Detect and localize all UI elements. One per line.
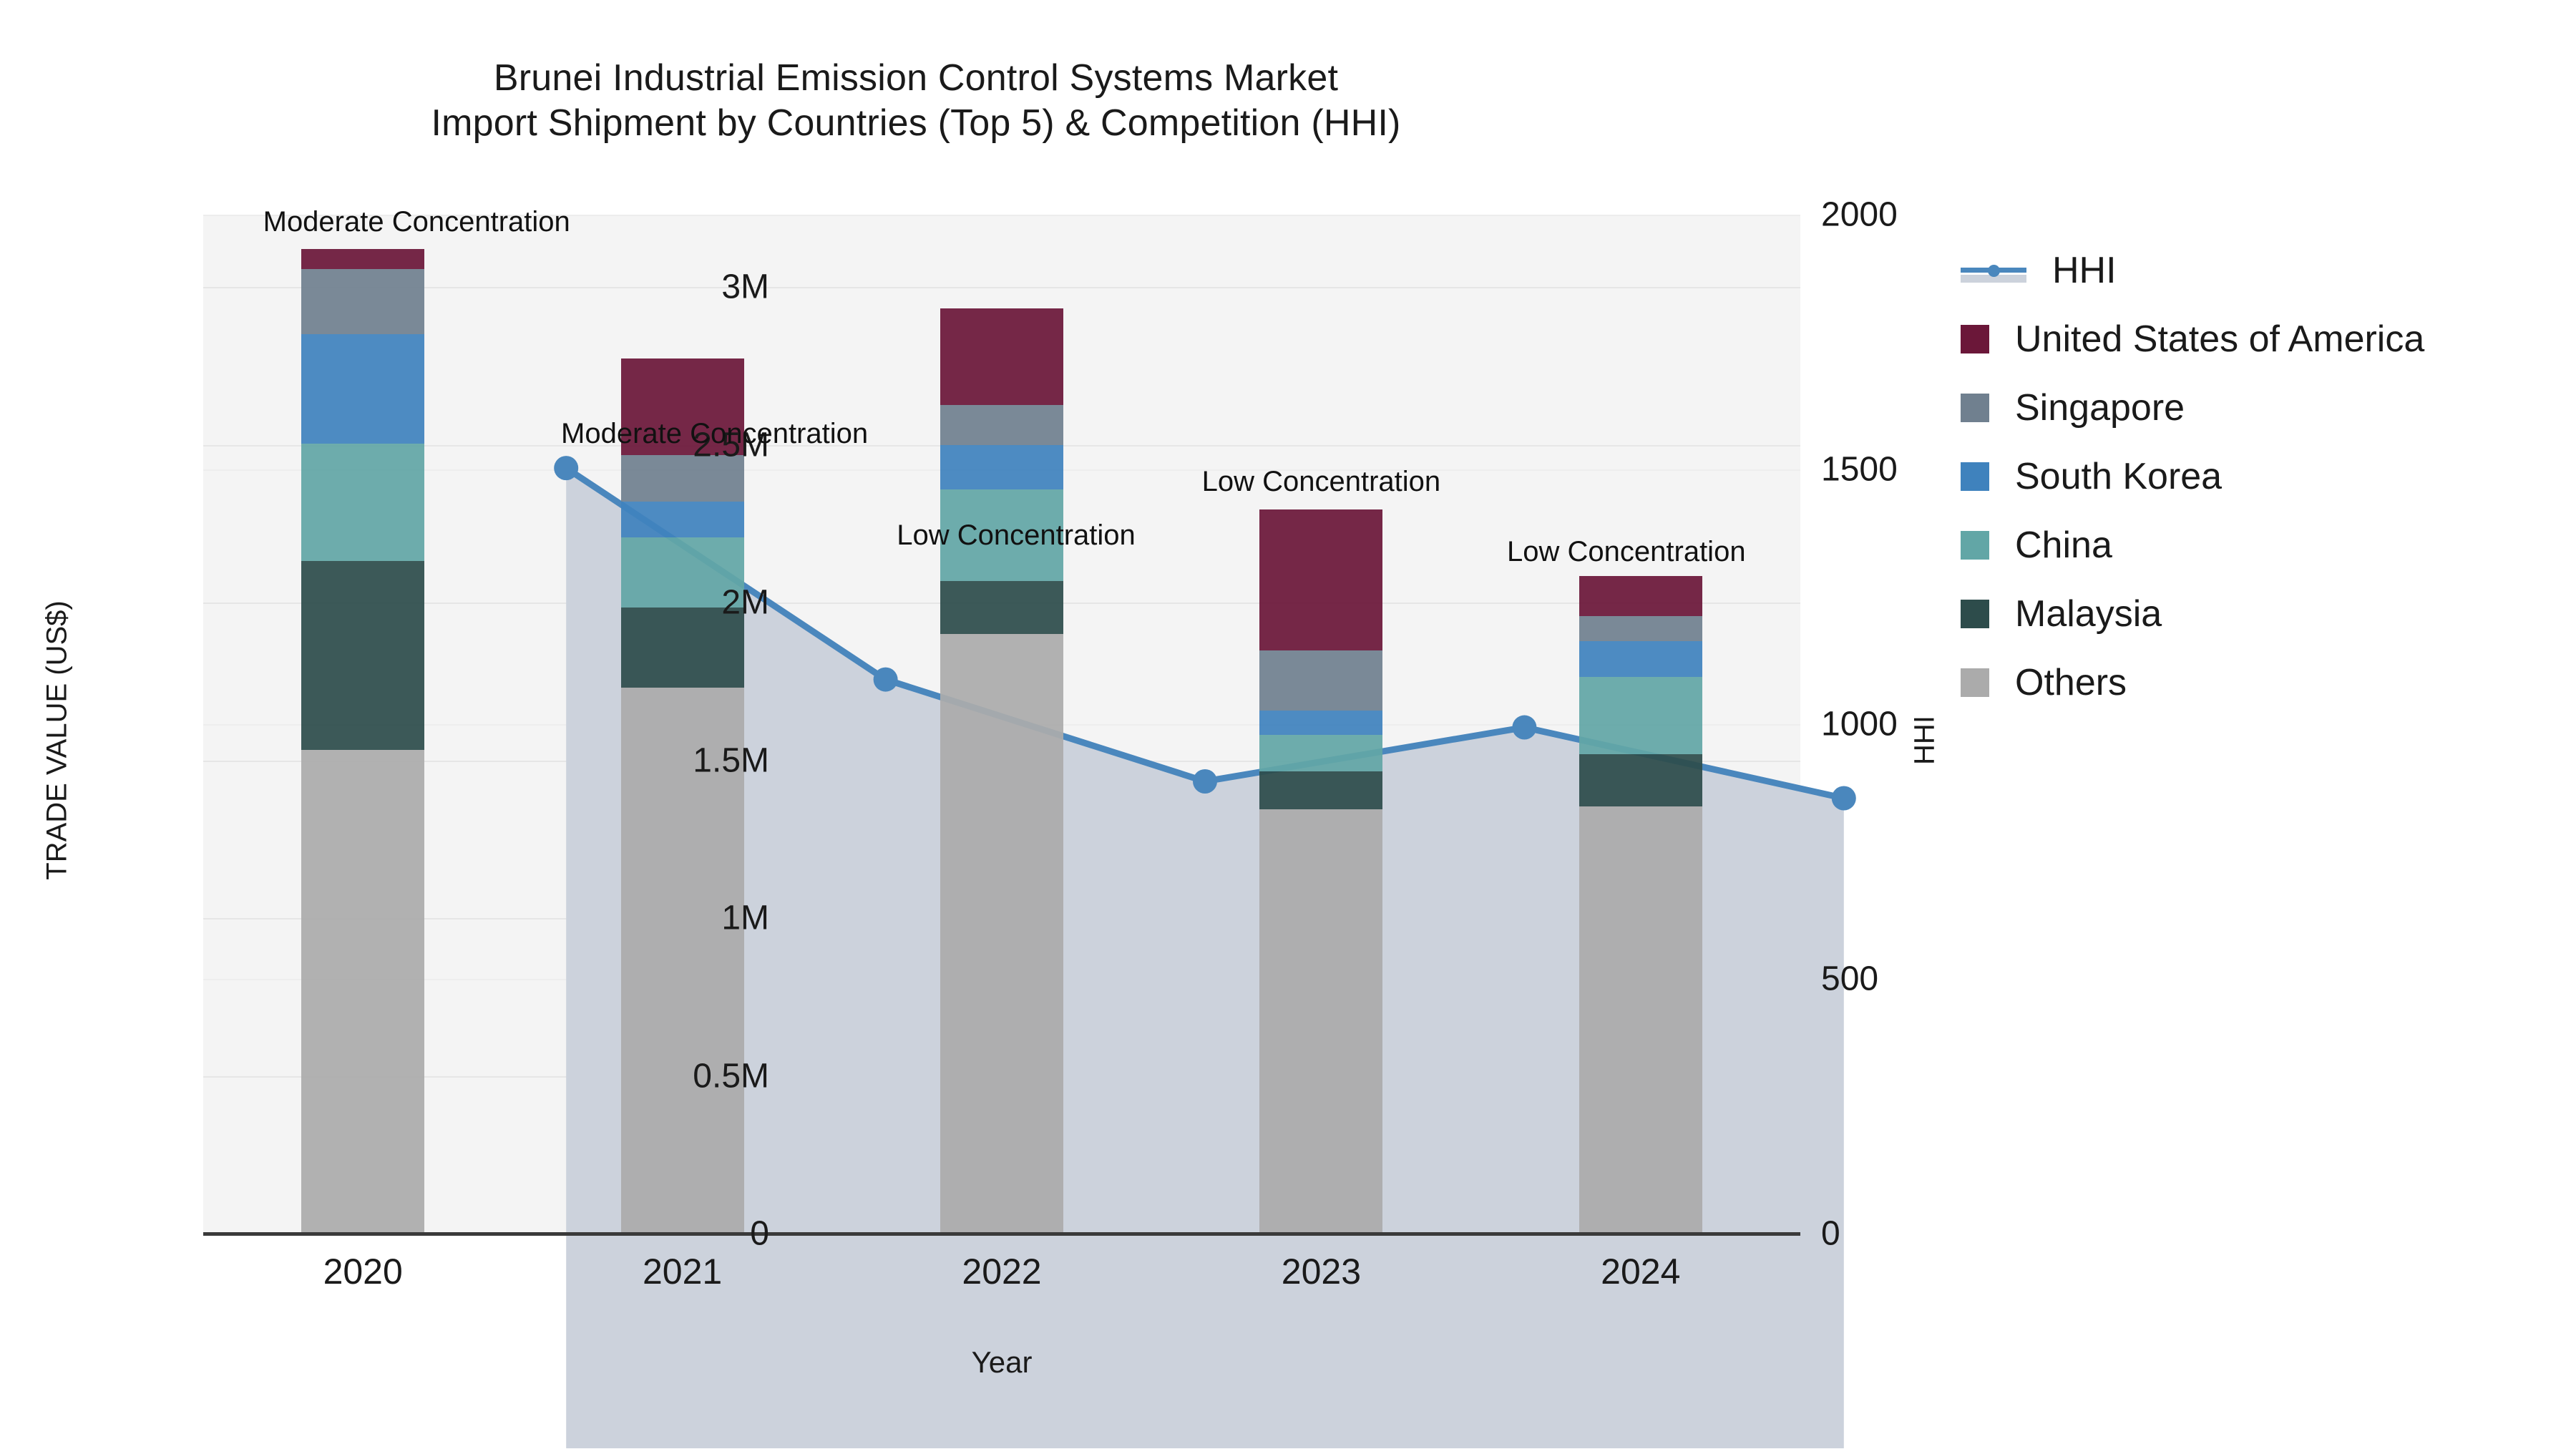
legend-item[interactable]: HHI bbox=[1961, 236, 2424, 305]
bar-segment[interactable] bbox=[1579, 754, 1702, 806]
bar-segment[interactable] bbox=[940, 405, 1063, 445]
bar-segment[interactable] bbox=[1579, 576, 1702, 616]
legend-item[interactable]: China bbox=[1961, 511, 2424, 580]
plot-area bbox=[203, 215, 1800, 1234]
bar-segment[interactable] bbox=[1259, 771, 1382, 809]
legend-item[interactable]: United States of America bbox=[1961, 305, 2424, 374]
x-axis-label: Year bbox=[203, 1345, 1800, 1380]
y-axis-tick-label: 1M bbox=[483, 899, 769, 938]
chart-title-line-1: Brunei Industrial Emission Control Syste… bbox=[0, 56, 1832, 101]
bar-stack[interactable] bbox=[1579, 215, 1702, 1234]
bar-segment[interactable] bbox=[1259, 711, 1382, 735]
legend-item[interactable]: Singapore bbox=[1961, 374, 2424, 442]
bar-segment[interactable] bbox=[1259, 650, 1382, 711]
bar-segment[interactable] bbox=[621, 502, 744, 537]
legend-item[interactable]: Malaysia bbox=[1961, 580, 2424, 648]
bar-segment[interactable] bbox=[1579, 806, 1702, 1234]
x-axis-tick-label: 2022 bbox=[962, 1251, 1041, 1292]
bar-segment[interactable] bbox=[1259, 809, 1382, 1234]
hhi-marker[interactable] bbox=[1832, 786, 1856, 810]
bar-stack[interactable] bbox=[301, 215, 424, 1234]
concentration-annotation: Low Concentration bbox=[1202, 466, 1441, 498]
x-axis-line bbox=[203, 1232, 1800, 1236]
y-axis-tick-label: 1.5M bbox=[483, 741, 769, 780]
bar-segment[interactable] bbox=[940, 308, 1063, 405]
bar-segment[interactable] bbox=[301, 444, 424, 561]
legend-swatch-icon bbox=[1961, 394, 1989, 422]
bar-segment[interactable] bbox=[301, 750, 424, 1234]
hhi-marker[interactable] bbox=[1512, 716, 1536, 740]
concentration-annotation: Low Concentration bbox=[1507, 536, 1746, 568]
bar-segment[interactable] bbox=[1579, 641, 1702, 677]
y-axis-right-label: HHI bbox=[1909, 526, 1941, 955]
bar-segment[interactable] bbox=[1259, 509, 1382, 650]
chart-legend: HHIUnited States of AmericaSingaporeSout… bbox=[1961, 236, 2424, 717]
y-axis-right-tick-label: 500 bbox=[1821, 960, 1878, 999]
legend-swatch-icon bbox=[1961, 325, 1989, 353]
legend-item-label: Malaysia bbox=[2015, 595, 2162, 633]
bar-segment[interactable] bbox=[940, 634, 1063, 1234]
x-axis-tick-label: 2020 bbox=[323, 1251, 403, 1292]
legend-swatch-icon bbox=[1961, 600, 1989, 628]
y-axis-right-tick-label: 1500 bbox=[1821, 450, 1898, 489]
bar-segment[interactable] bbox=[940, 445, 1063, 489]
hhi-marker[interactable] bbox=[874, 668, 898, 692]
legend-item-label: South Korea bbox=[2015, 458, 2222, 495]
bar-segment[interactable] bbox=[301, 561, 424, 751]
concentration-annotation: Low Concentration bbox=[897, 519, 1136, 552]
legend-item-label: United States of America bbox=[2015, 321, 2424, 358]
bar-segment[interactable] bbox=[301, 249, 424, 269]
y-axis-right-tick-label: 2000 bbox=[1821, 195, 1898, 235]
bar-segment[interactable] bbox=[940, 581, 1063, 635]
y-axis-right-tick-label: 0 bbox=[1821, 1214, 1840, 1254]
chart-title-subtitle: Import Shipment by Countries (Top 5) & C… bbox=[0, 101, 1832, 146]
chart-title: Brunei Industrial Emission Control Syste… bbox=[0, 56, 1832, 147]
concentration-annotation: Moderate Concentration bbox=[561, 418, 868, 450]
legend-item-label: Others bbox=[2015, 664, 2127, 701]
legend-item-label: China bbox=[2015, 527, 2112, 564]
bar-segment[interactable] bbox=[1259, 735, 1382, 771]
legend-item-label: Singapore bbox=[2015, 389, 2185, 426]
x-axis-tick-label: 2024 bbox=[1601, 1251, 1680, 1292]
bar-segment[interactable] bbox=[301, 269, 424, 334]
legend-swatch-icon bbox=[1961, 462, 1989, 491]
legend-swatch-icon bbox=[1961, 668, 1989, 697]
x-axis-tick-label: 2023 bbox=[1282, 1251, 1361, 1292]
y-axis-tick-label: 0.5M bbox=[483, 1056, 769, 1096]
y-axis-tick-label: 2M bbox=[483, 583, 769, 623]
legend-swatch-icon bbox=[1961, 531, 1989, 560]
legend-item[interactable]: Others bbox=[1961, 648, 2424, 717]
legend-line-marker-icon bbox=[1961, 256, 2026, 285]
y-axis-left-label: TRADE VALUE (US$) bbox=[42, 419, 74, 1063]
legend-item-label: HHI bbox=[2052, 252, 2117, 289]
bar-segment[interactable] bbox=[301, 334, 424, 444]
y-axis-tick-label: 3M bbox=[483, 268, 769, 307]
bar-segment[interactable] bbox=[1579, 616, 1702, 641]
y-axis-tick-label: 0 bbox=[483, 1214, 769, 1254]
bar-segment[interactable] bbox=[1579, 677, 1702, 754]
hhi-marker[interactable] bbox=[1193, 769, 1217, 794]
x-axis-tick-label: 2021 bbox=[643, 1251, 722, 1292]
chart-canvas: Brunei Industrial Emission Control Syste… bbox=[0, 0, 2576, 1449]
y-axis-right-tick-label: 1000 bbox=[1821, 705, 1898, 744]
bar-stack[interactable] bbox=[1259, 215, 1382, 1234]
concentration-annotation: Moderate Concentration bbox=[263, 206, 570, 238]
bar-stack[interactable] bbox=[940, 215, 1063, 1234]
legend-item[interactable]: South Korea bbox=[1961, 442, 2424, 511]
